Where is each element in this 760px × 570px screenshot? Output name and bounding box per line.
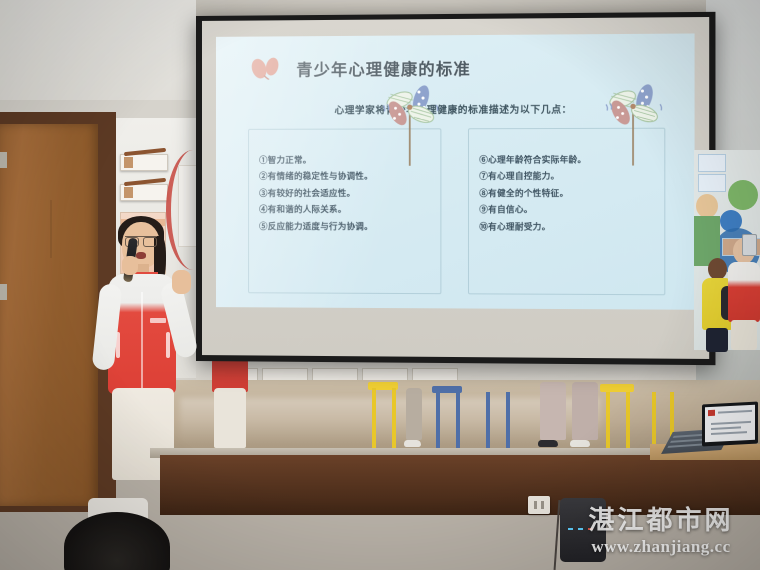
- person-legs: [706, 328, 728, 352]
- person-legs: [731, 320, 757, 350]
- power-outlet-icon: [528, 496, 550, 514]
- presentation-slide: 青少年心理健康的标准 心理学家将青少年心理健康的标准描述为以下几点：: [216, 33, 695, 309]
- slide-columns: ①智力正常。 ②有情绪的稳定性与协调性。 ③有较好的社会适应性。 ④有和谐的人际…: [248, 128, 665, 296]
- shoe-2: [538, 440, 558, 447]
- slide-title: 青少年心理健康的标准: [296, 55, 471, 80]
- safety-sign-1: [120, 154, 168, 171]
- vest-pocket-right: [166, 332, 170, 358]
- list-item: ④有和谐的人际关系。: [259, 201, 432, 218]
- pa-speaker-box: [560, 498, 606, 562]
- wall-card-1: [698, 154, 726, 172]
- speaker-hand-left: [122, 256, 138, 275]
- chair-blue-leg-4: [506, 392, 510, 448]
- slide-title-row: 青少年心理健康的标准: [250, 55, 471, 80]
- safety-sign-2: [120, 184, 168, 201]
- pants-seam: [50, 200, 52, 258]
- seated-legs-1: [406, 388, 422, 440]
- speaker-presenter: [92, 222, 216, 472]
- smartphone-icon: [742, 234, 757, 256]
- shoe-3: [570, 440, 590, 447]
- projection-screen: 青少年心理健康的标准 心理学家将青少年心理健康的标准描述为以下几点：: [196, 12, 715, 365]
- screen-surface: 青少年心理健康的标准 心理学家将青少年心理健康的标准描述为以下几点：: [202, 17, 709, 359]
- pinwheel-icon-right: [596, 82, 671, 168]
- chair-yellow-leg-3: [606, 390, 610, 448]
- list-item: ⑨有自信心。: [479, 201, 656, 218]
- wall-card-2: [698, 174, 726, 192]
- slide-left-box: ①智力正常。 ②有情绪的稳定性与协调性。 ③有较好的社会适应性。 ④有和谐的人际…: [248, 128, 441, 294]
- laptop-logo-icon: [708, 410, 715, 416]
- list-item: ⑩有心理耐受力。: [479, 218, 656, 235]
- stage-front-panel: [160, 455, 760, 515]
- standing-person-left: [212, 358, 248, 392]
- standing-person-left-pants: [214, 388, 246, 448]
- chair-yellow-leg-4: [626, 390, 630, 448]
- list-item: ③有较好的社会适应性。: [259, 185, 432, 202]
- chair-blue-leg-3: [486, 392, 490, 448]
- slide-right-box: ⑥心理年龄符合实际年龄。 ⑦有心理自控能力。 ⑧有健全的个性特征。 ⑨有自信心。…: [468, 128, 665, 296]
- chair-blue-leg-1: [436, 392, 440, 448]
- list-item: ⑧有健全的个性特征。: [479, 185, 656, 202]
- chair-yellow-leg-2: [392, 388, 396, 448]
- list-item: ②有情绪的稳定性与协调性。: [259, 168, 432, 185]
- laptop[interactable]: [702, 402, 758, 447]
- laptop-display: [705, 405, 755, 443]
- audience-head-foreground: [64, 512, 170, 570]
- seated-legs-3: [572, 382, 598, 440]
- pinwheel-icon-left: [373, 83, 446, 168]
- chair-yellow-leg-1: [372, 388, 376, 448]
- leaf-decoration-icon: [250, 57, 286, 79]
- person-head: [708, 258, 727, 280]
- wall-circle-green: [728, 180, 758, 210]
- speaker-hand-right: [172, 270, 191, 294]
- chair-yellow-leg-5: [652, 392, 656, 448]
- person-red-vest: [728, 238, 760, 350]
- seated-legs-2: [540, 382, 566, 440]
- photo-scene: 青少年心理健康的标准 心理学家将青少年心理健康的标准描述为以下几点：: [0, 0, 760, 570]
- door-panel[interactable]: [0, 124, 98, 506]
- vest-zipper: [141, 292, 143, 392]
- wall-figure-head: [696, 194, 718, 218]
- speaker-mouth: [136, 252, 146, 259]
- list-item: ⑤反应能力适度与行为协调。: [259, 218, 432, 235]
- shoe-1: [404, 440, 421, 447]
- chair-blue-leg-2: [456, 392, 460, 448]
- vest-logo: [150, 318, 166, 323]
- person-vest: [728, 262, 760, 322]
- list-item: ⑦有心理自控能力。: [479, 168, 656, 185]
- chair-yellow-seat-2: [600, 384, 634, 392]
